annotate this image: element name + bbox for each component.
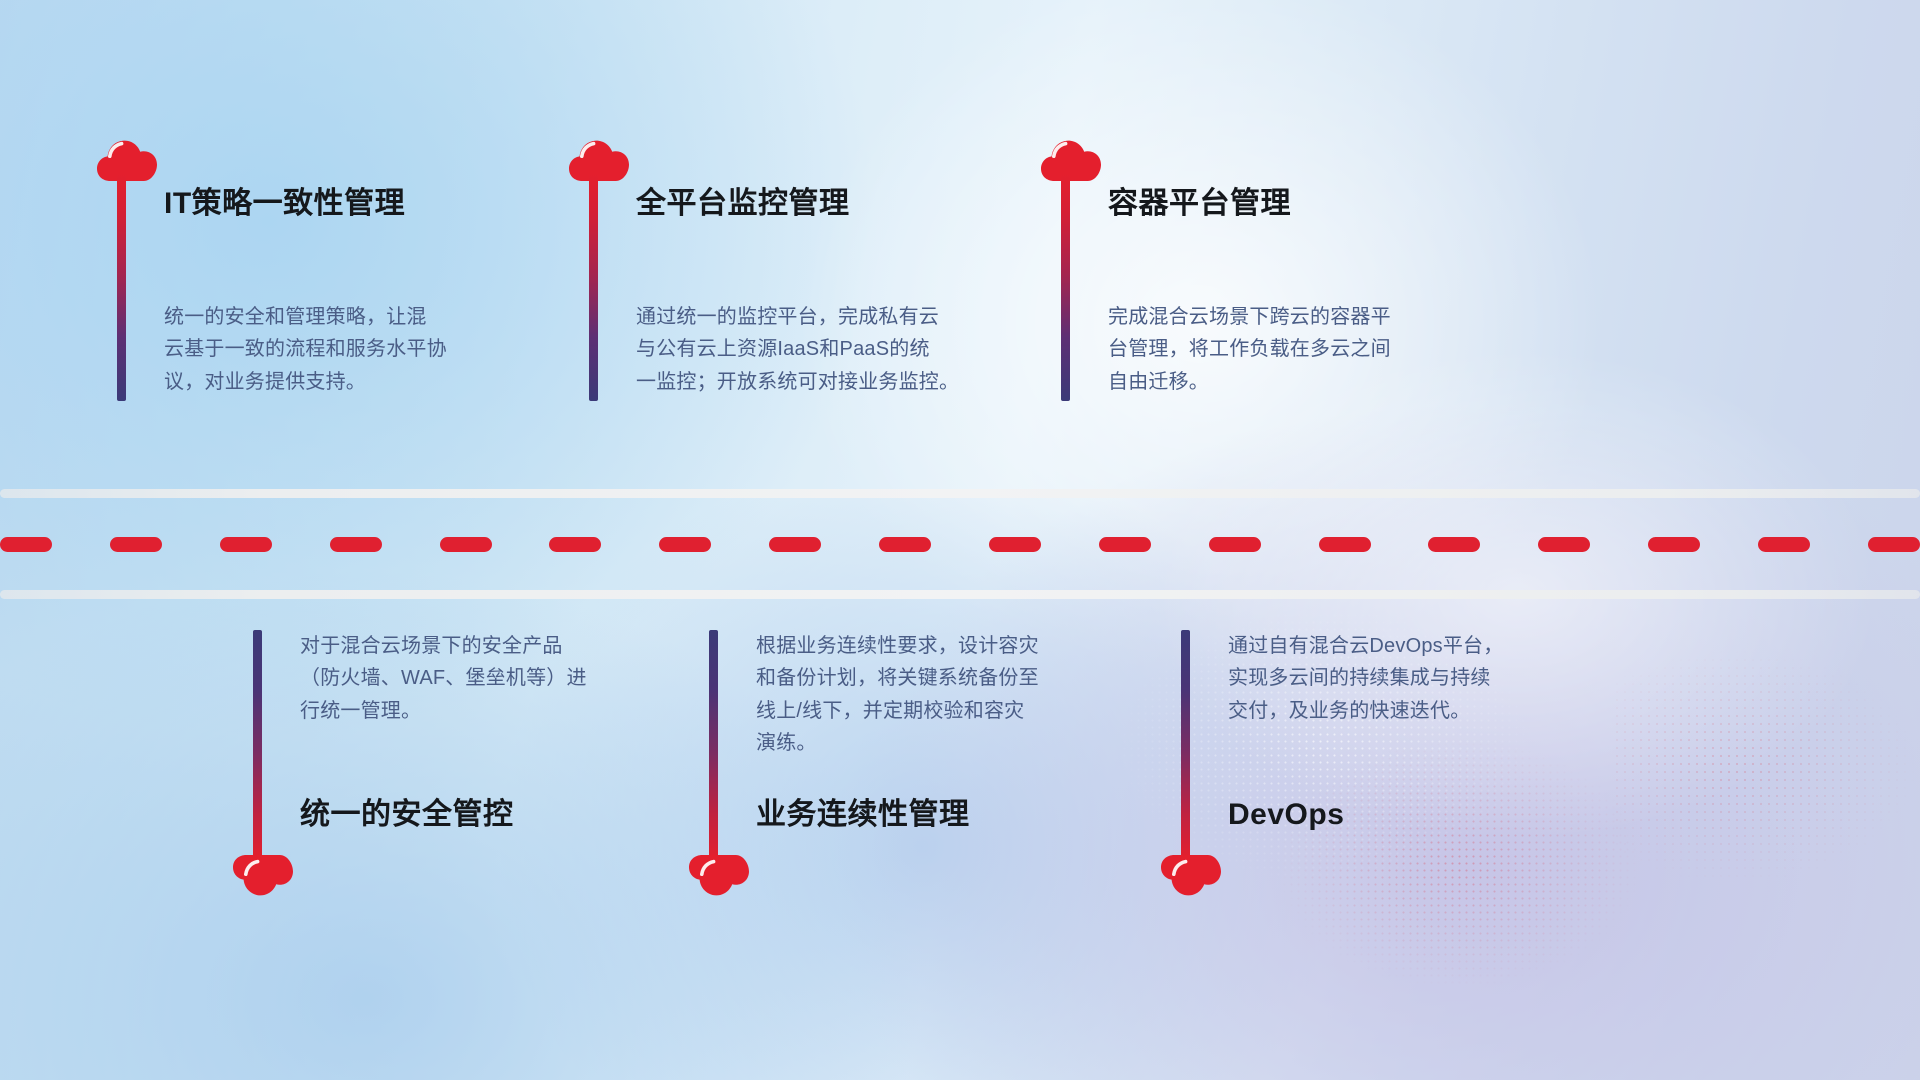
road-dash-segment bbox=[1648, 537, 1700, 552]
cloud-icon bbox=[96, 136, 158, 182]
road-dash-segment bbox=[549, 537, 601, 552]
road-dash-segment bbox=[659, 537, 711, 552]
road-edge-top-line bbox=[0, 489, 1920, 498]
road-dash-segment bbox=[0, 537, 52, 552]
road-dash-segment bbox=[1868, 537, 1920, 552]
road-dash-segment bbox=[989, 537, 1041, 552]
road-dash-segment bbox=[1319, 537, 1371, 552]
infographic-canvas: IT策略一致性管理 统一的安全和管理策略，让混 云基于一致的流程和服务水平协 议… bbox=[0, 0, 1920, 1080]
connector-bar bbox=[589, 174, 598, 401]
feature-title: 全平台监控管理 bbox=[636, 189, 850, 219]
description-line: 根据业务连续性要求，设计容灾 bbox=[756, 630, 1039, 662]
road-dash-segment bbox=[1099, 537, 1151, 552]
description-line: 线上/线下，并定期校验和容灾 bbox=[756, 695, 1039, 727]
description-line: 统一的安全和管理策略，让混 bbox=[164, 301, 447, 333]
feature-description: 通过统一的监控平台，完成私有云 与公有云上资源IaaS和PaaS的统 一监控；开… bbox=[636, 301, 959, 398]
road-dashed-center-line bbox=[0, 537, 1920, 552]
road-dash-segment bbox=[879, 537, 931, 552]
cloud-icon bbox=[1160, 854, 1222, 900]
connector-bar bbox=[1061, 174, 1070, 401]
feature-title: 业务连续性管理 bbox=[756, 800, 970, 830]
description-line: 行统一管理。 bbox=[300, 695, 587, 727]
road-dash-segment bbox=[110, 537, 162, 552]
road-dash-segment bbox=[440, 537, 492, 552]
road-edge-bottom-line bbox=[0, 590, 1920, 599]
feature-title: 容器平台管理 bbox=[1108, 189, 1291, 219]
connector-bar bbox=[709, 630, 718, 860]
description-line: 一监控；开放系统可对接业务监控。 bbox=[636, 366, 959, 398]
feature-description: 对于混合云场景下的安全产品 （防火墙、WAF、堡垒机等）进 行统一管理。 bbox=[300, 630, 587, 727]
cloud-icon bbox=[568, 136, 630, 182]
feature-description: 根据业务连续性要求，设计容灾 和备份计划，将关键系统备份至 线上/线下，并定期校… bbox=[756, 630, 1039, 760]
description-line: 交付，及业务的快速迭代。 bbox=[1228, 695, 1503, 727]
description-line: 演练。 bbox=[756, 727, 1039, 759]
road-dash-segment bbox=[769, 537, 821, 552]
feature-description: 统一的安全和管理策略，让混 云基于一致的流程和服务水平协 议，对业务提供支持。 bbox=[164, 301, 447, 398]
connector-bar bbox=[253, 630, 262, 860]
road-dash-segment bbox=[330, 537, 382, 552]
feature-title: DevOps bbox=[1228, 800, 1344, 830]
description-line: 自由迁移。 bbox=[1108, 366, 1391, 398]
feature-description: 完成混合云场景下跨云的容器平 台管理，将工作负载在多云之间 自由迁移。 bbox=[1108, 301, 1391, 398]
description-line: 对于混合云场景下的安全产品 bbox=[300, 630, 587, 662]
description-line: 和备份计划，将关键系统备份至 bbox=[756, 662, 1039, 694]
description-line: 议，对业务提供支持。 bbox=[164, 366, 447, 398]
description-line: 台管理，将工作负载在多云之间 bbox=[1108, 333, 1391, 365]
road-divider bbox=[0, 489, 1920, 599]
description-line: 实现多云间的持续集成与持续 bbox=[1228, 662, 1503, 694]
road-dash-segment bbox=[1428, 537, 1480, 552]
road-dash-segment bbox=[220, 537, 272, 552]
feature-title: IT策略一致性管理 bbox=[164, 189, 405, 219]
road-dash-segment bbox=[1538, 537, 1590, 552]
feature-description: 通过自有混合云DevOps平台， 实现多云间的持续集成与持续 交付，及业务的快速… bbox=[1228, 630, 1503, 727]
description-line: 与公有云上资源IaaS和PaaS的统 bbox=[636, 333, 959, 365]
description-line: 通过统一的监控平台，完成私有云 bbox=[636, 301, 959, 333]
description-line: 完成混合云场景下跨云的容器平 bbox=[1108, 301, 1391, 333]
cloud-icon bbox=[688, 854, 750, 900]
connector-bar bbox=[1181, 630, 1190, 860]
connector-bar bbox=[117, 174, 126, 401]
road-dash-segment bbox=[1209, 537, 1261, 552]
cloud-icon bbox=[232, 854, 294, 900]
description-line: 通过自有混合云DevOps平台， bbox=[1228, 630, 1503, 662]
road-dash-segment bbox=[1758, 537, 1810, 552]
cloud-icon bbox=[1040, 136, 1102, 182]
description-line: （防火墙、WAF、堡垒机等）进 bbox=[300, 662, 587, 694]
description-line: 云基于一致的流程和服务水平协 bbox=[164, 333, 447, 365]
feature-title: 统一的安全管控 bbox=[300, 800, 514, 830]
